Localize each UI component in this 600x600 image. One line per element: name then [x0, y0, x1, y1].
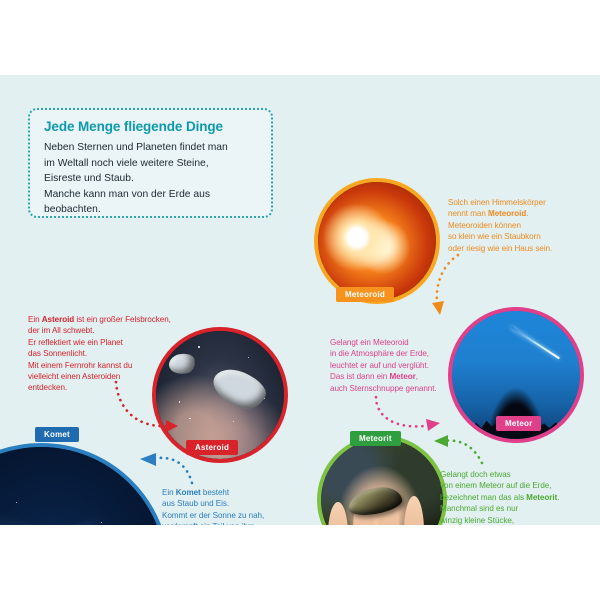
spread-canvas: Jede Menge fliegende Dinge Neben Sternen…	[0, 75, 600, 525]
shooting-star-streak	[510, 326, 560, 359]
meteorit-photo-circle	[317, 435, 447, 525]
intro-line: im Weltall noch viele weitere Steine,	[44, 156, 259, 172]
meteoroid-photo-circle	[314, 178, 440, 304]
label-badge-meteoroid: Meteoroid	[336, 287, 394, 302]
meteorite-in-hand-image	[321, 439, 443, 525]
text-block-komet: Ein Komet bestehtaus Staub und Eis.Kommt…	[162, 487, 322, 525]
asteroid-rock-large	[208, 363, 271, 415]
dotted-arrow-meteoroid-to-meteor	[424, 251, 464, 321]
text-block-meteorit: Gelangt doch etwasvon einem Meteor auf d…	[440, 469, 600, 525]
intro-line: Neben Sternen und Planeten findet man	[44, 140, 259, 156]
intro-title: Jede Menge fliegende Dinge	[44, 119, 259, 134]
text-block-asteroid: Ein Asteroid ist ein großer Felsbrocken,…	[28, 314, 188, 394]
label-badge-meteor: Meteor	[496, 416, 541, 431]
text-block-meteoroid: Solch einen Himmelskörpernennt man Meteo…	[448, 197, 598, 254]
intro-callout-box: Jede Menge fliegende Dinge Neben Sternen…	[28, 108, 273, 218]
dotted-arrow-komet-to-circle	[136, 453, 198, 489]
intro-line: Eisreste und Staub.	[44, 171, 259, 187]
text-block-meteor: Gelangt ein Meteoroidin die Atmosphäre d…	[330, 337, 480, 394]
intro-body: Neben Sternen und Planeten findet man im…	[44, 140, 259, 218]
intro-line: beobachten.	[44, 202, 259, 218]
finger	[404, 496, 424, 525]
label-badge-komet: Komet	[35, 427, 79, 442]
intro-line: Manche kann man von der Erde aus	[44, 187, 259, 203]
meteoroid-fireball-image	[318, 182, 436, 300]
finger	[328, 502, 348, 525]
dotted-arrow-meteorit-to-circle	[432, 435, 486, 469]
book-spread-page: Jede Menge fliegende Dinge Neben Sternen…	[0, 0, 600, 600]
comet-tail	[0, 512, 108, 525]
